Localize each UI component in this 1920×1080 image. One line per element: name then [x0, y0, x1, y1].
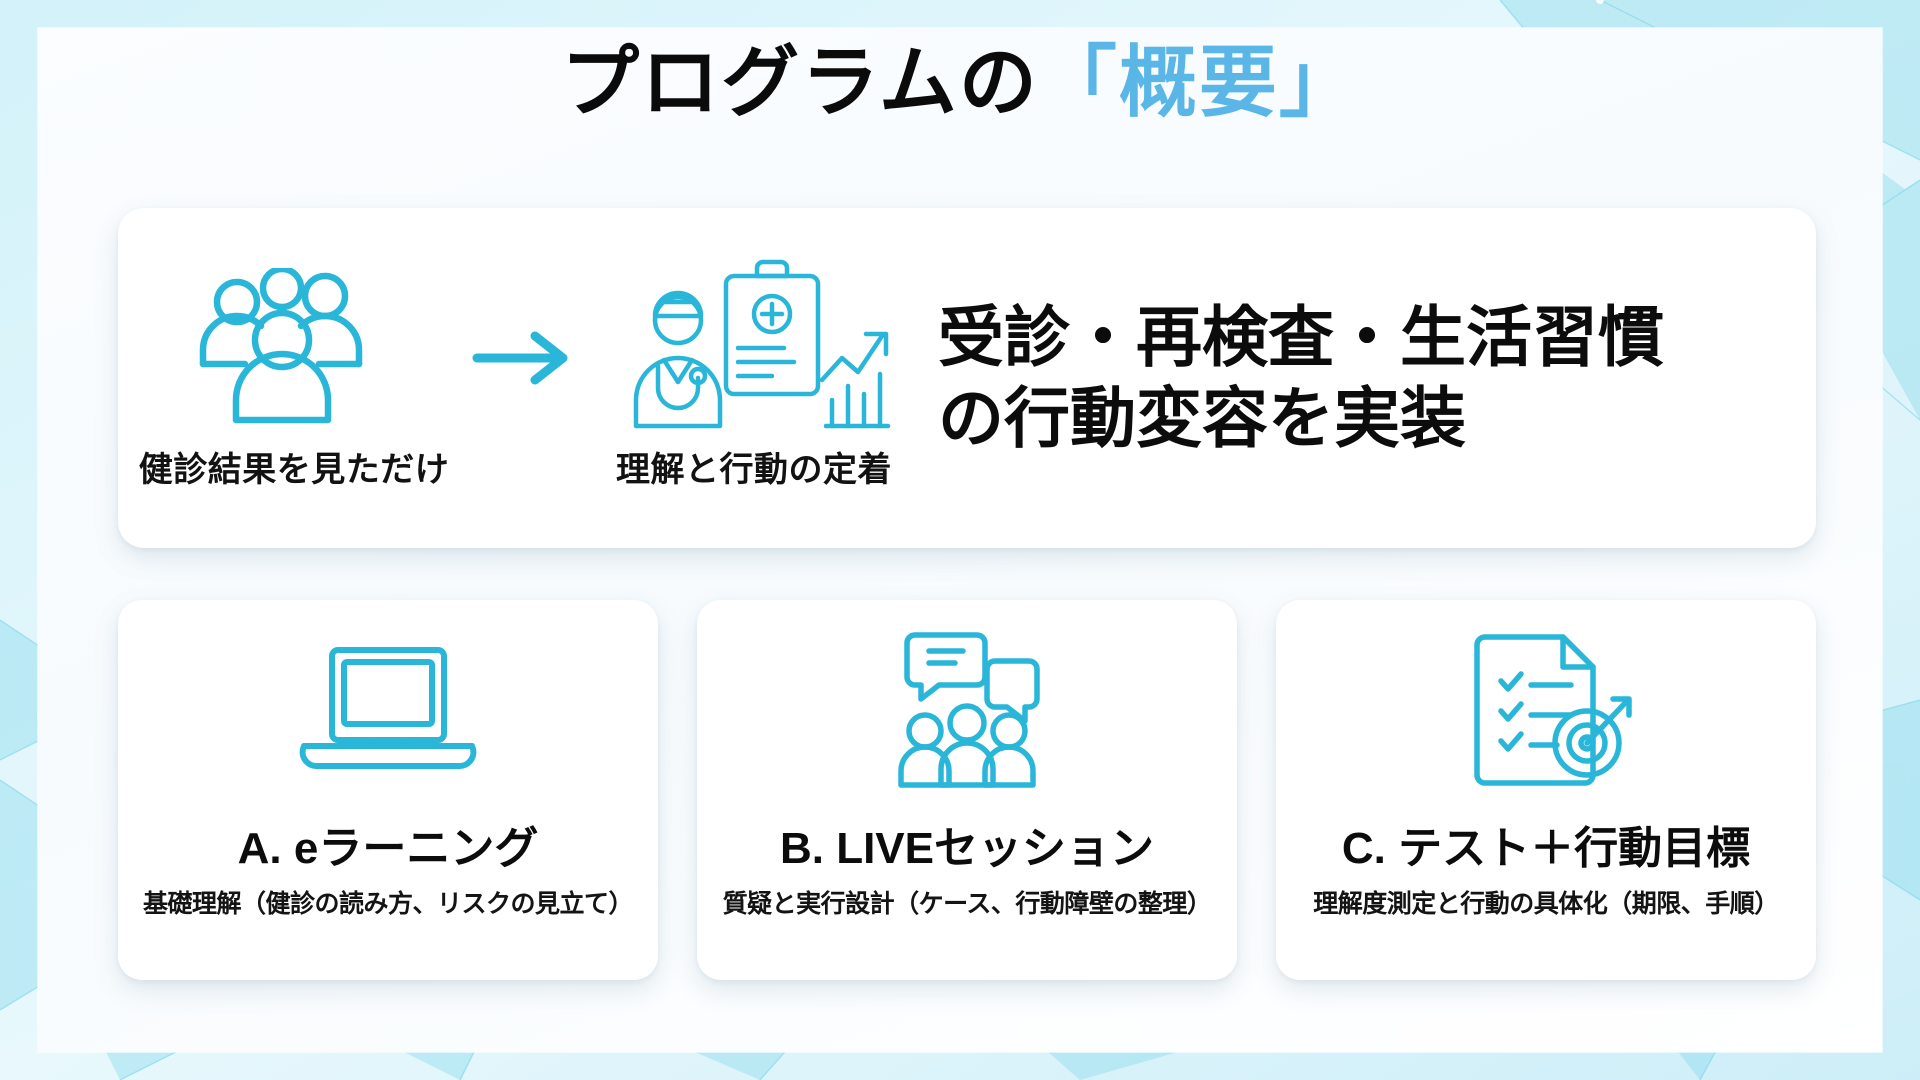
program-card-b[interactable]: B. LIVEセッション 質疑と実行設計（ケース、行動障壁の整理） [697, 600, 1237, 980]
program-card-a[interactable]: A. eラーニング 基礎理解（健診の読み方、リスクの見立て） [118, 600, 658, 980]
slide-canvas: プログラムの「概要」 [0, 0, 1920, 1080]
program-card-c-subtitle: 理解度測定と行動の具体化（期限、手順） [1313, 884, 1779, 920]
arrow-right-icon [444, 328, 604, 428]
doctor-clipboard-chart-icon [614, 266, 894, 436]
headline-line-2: の行動変容を実装 [938, 378, 1790, 459]
headline-line-1: 受診・再検査・生活習慣 [938, 297, 1790, 378]
checklist-target-icon [1451, 624, 1641, 794]
page-title-main: プログラムの [561, 38, 1039, 126]
program-cards-row: A. eラーニング 基礎理解（健診の読み方、リスクの見立て） [118, 600, 1816, 980]
overview-flow-card: 健診結果を見ただけ [118, 208, 1816, 548]
chat-people-icon [867, 624, 1067, 794]
program-card-c[interactable]: C. テスト＋行動目標 理解度測定と行動の具体化（期限、手順） [1276, 600, 1816, 980]
stage-after: 理解と行動の定着 [604, 266, 904, 491]
program-card-a-subtitle: 基礎理解（健診の読み方、リスクの見立て） [143, 884, 633, 920]
stage-after-caption: 理解と行動の定着 [616, 442, 892, 491]
program-card-b-subtitle: 質疑と実行設計（ケース、行動障壁の整理） [723, 884, 1212, 920]
laptop-icon [288, 624, 488, 794]
program-card-a-title: A. eラーニング [238, 812, 539, 876]
headline: 受診・再検査・生活習慣 の行動変容を実装 [904, 297, 1790, 458]
page-title-highlight: 「概要」 [1039, 38, 1359, 126]
program-card-c-title: C. テスト＋行動目標 [1342, 812, 1750, 876]
people-group-icon [179, 266, 409, 436]
stage-before: 健診結果を見ただけ [144, 266, 444, 491]
page-title: プログラムの「概要」 [0, 40, 1920, 126]
stage-before-caption: 健診結果を見ただけ [139, 442, 450, 491]
program-card-b-title: B. LIVEセッション [780, 812, 1154, 876]
